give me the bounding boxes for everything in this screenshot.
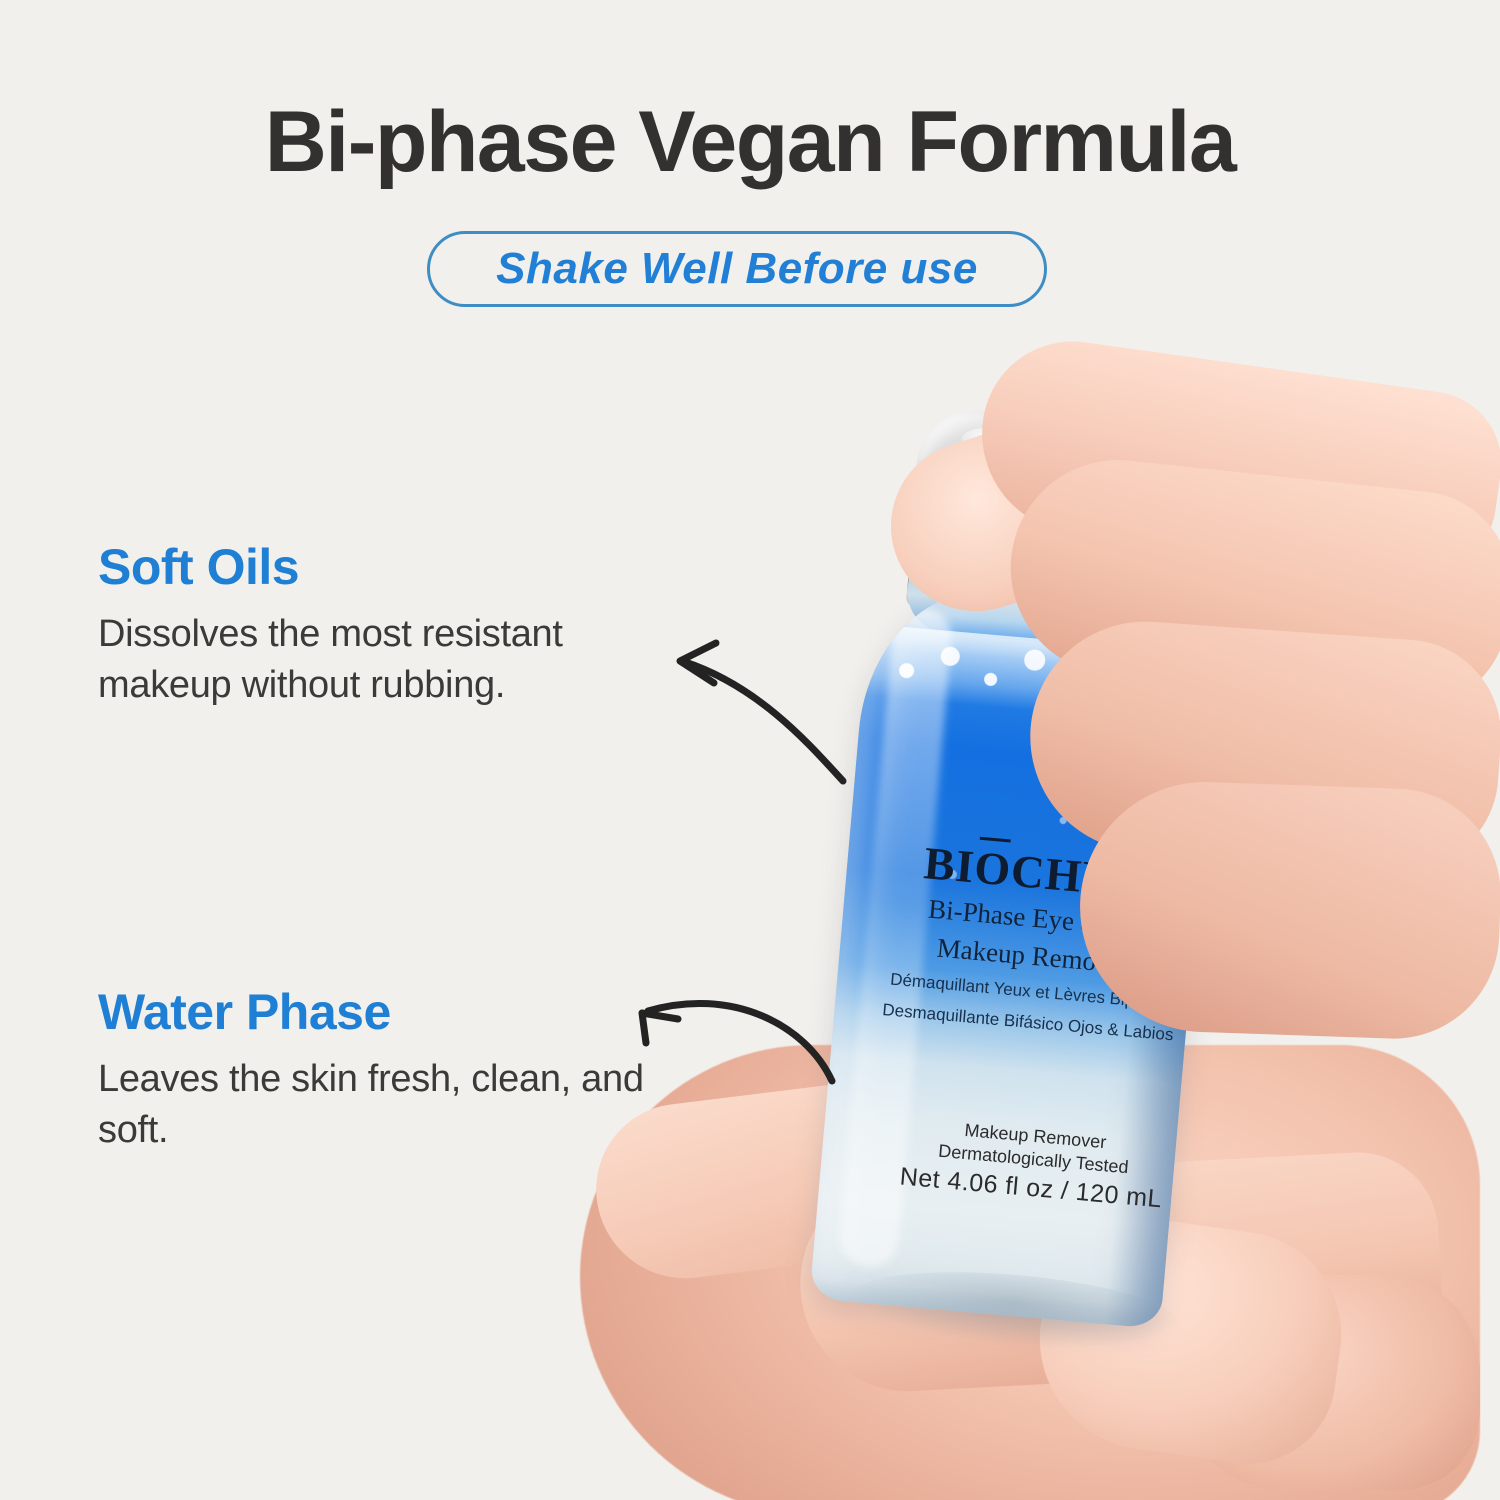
product-feature-graphic: Bi-phase Vegan Formula Shake Well Before… [0, 0, 1500, 1500]
feature-water-phase-description: Leaves the skin fresh, clean, and soft. [98, 1054, 658, 1155]
shake-well-badge-label: Shake Well Before use [496, 244, 978, 294]
page-title: Bi-phase Vegan Formula [0, 96, 1500, 189]
feature-water-phase-title: Water Phase [98, 985, 658, 1040]
upper-finger-pinky [1076, 778, 1500, 1043]
brand-prefix: BI [922, 837, 977, 892]
feature-soft-oils-description: Dissolves the most resistant makeup with… [98, 609, 658, 710]
feature-water-phase: Water Phase Leaves the skin fresh, clean… [98, 985, 658, 1155]
product-photo: BIOCHEM Bi-Phase Eye & Lip Makeup Remove… [560, 345, 1500, 1500]
feature-soft-oils-title: Soft Oils [98, 540, 658, 595]
shake-well-badge: Shake Well Before use [427, 231, 1047, 307]
brand-macron-o: O [972, 842, 1013, 896]
feature-soft-oils: Soft Oils Dissolves the most resistant m… [98, 540, 658, 710]
